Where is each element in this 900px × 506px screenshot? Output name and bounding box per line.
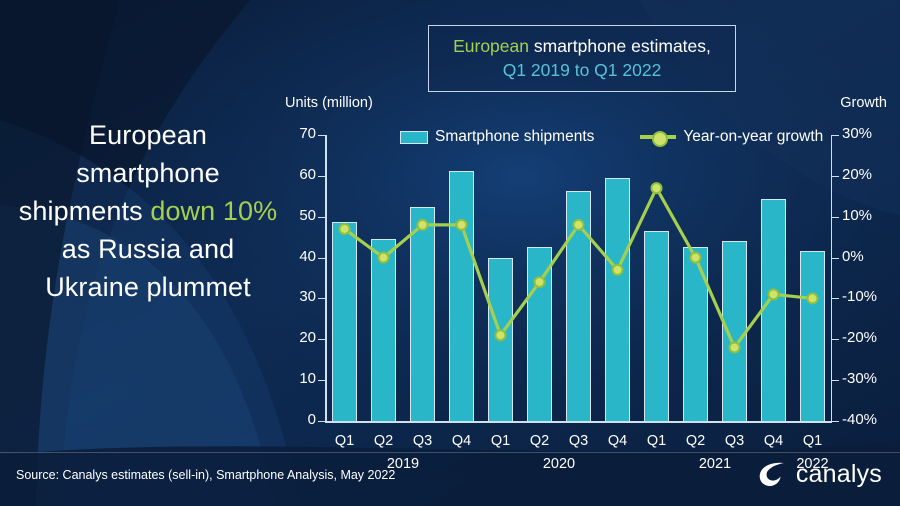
y-tick-label-right: -40% xyxy=(842,411,877,428)
y-tick-label-left: 40 xyxy=(299,248,316,265)
growth-line-path xyxy=(345,188,813,347)
growth-marker-0 xyxy=(340,224,350,234)
y-tick-left xyxy=(318,135,325,136)
y-tick-left xyxy=(318,298,325,299)
y-axis-title-left: Units (million) xyxy=(285,95,373,111)
y-tick-right xyxy=(832,298,839,299)
x-tick-label-7: Q4 xyxy=(598,433,637,449)
x-tick-label-11: Q4 xyxy=(754,433,793,449)
y-tick-left xyxy=(318,421,325,422)
growth-marker-7 xyxy=(613,265,623,275)
growth-marker-2 xyxy=(418,220,428,230)
y-tick-right xyxy=(832,258,839,259)
chart-title-box: European smartphone estimates, Q1 2019 t… xyxy=(428,25,736,92)
y-tick-label-left: 70 xyxy=(299,125,316,142)
y-tick-label-left: 0 xyxy=(308,411,316,428)
y-tick-right xyxy=(832,380,839,381)
slide-canvas: European smartphone shipments down 10% a… xyxy=(0,0,900,506)
y-tick-left xyxy=(318,217,325,218)
growth-marker-1 xyxy=(379,253,389,263)
x-tick-label-6: Q3 xyxy=(559,433,598,449)
y-tick-label-left: 60 xyxy=(299,166,316,183)
x-tick-label-0: Q1 xyxy=(325,433,364,449)
chart: Units (million) Growth Smartphone shipme… xyxy=(285,95,885,445)
growth-marker-6 xyxy=(574,220,584,230)
y-tick-label-right: 10% xyxy=(842,207,872,224)
y-tick-label-right: 20% xyxy=(842,166,872,183)
y-tick-label-left: 30 xyxy=(299,288,316,305)
y-tick-label-right: -30% xyxy=(842,370,877,387)
y-tick-left xyxy=(318,380,325,381)
chart-title-region: European xyxy=(453,36,529,56)
growth-marker-12 xyxy=(808,293,818,303)
x-tick-label-10: Q3 xyxy=(715,433,754,449)
growth-marker-5 xyxy=(535,277,545,287)
y-tick-right xyxy=(832,176,839,177)
x-tick-label-9: Q2 xyxy=(676,433,715,449)
growth-marker-11 xyxy=(769,289,779,299)
y-tick-left xyxy=(318,339,325,340)
x-tick-label-2: Q3 xyxy=(403,433,442,449)
chart-title-line-2: Q1 2019 to Q1 2022 xyxy=(503,60,662,81)
growth-marker-8 xyxy=(652,183,662,193)
growth-marker-9 xyxy=(691,253,701,263)
chart-title-line-1: European smartphone estimates, xyxy=(453,36,711,57)
x-tick-label-4: Q1 xyxy=(481,433,520,449)
canalys-wordmark: canalys xyxy=(796,460,882,489)
x-tick-label-8: Q1 xyxy=(637,433,676,449)
canalys-swoosh-icon xyxy=(757,459,787,489)
headline-highlight: down 10% xyxy=(150,196,277,226)
x-tick-label-5: Q2 xyxy=(520,433,559,449)
x-axis-line xyxy=(325,421,832,423)
y-tick-label-left: 50 xyxy=(299,207,316,224)
x-tick-label-12: Q1 xyxy=(793,433,832,449)
growth-marker-4 xyxy=(496,330,506,340)
growth-marker-10 xyxy=(730,342,740,352)
plot-area: 010203040506070-40%-30%-20%-10%0%10%20%3… xyxy=(325,135,832,421)
footer-divider xyxy=(0,452,900,453)
source-note: Source: Canalys estimates (sell-in), Sma… xyxy=(16,468,395,482)
headline-part-2: as Russia and Ukraine plummet xyxy=(45,234,251,302)
y-tick-right xyxy=(832,135,839,136)
growth-line-series xyxy=(325,135,832,421)
y-tick-label-left: 10 xyxy=(299,370,316,387)
y-axis-title-right: Growth xyxy=(840,95,887,111)
y-tick-right xyxy=(832,421,839,422)
y-tick-label-right: 30% xyxy=(842,125,872,142)
y-tick-label-right: -20% xyxy=(842,329,877,346)
page-headline: European smartphone shipments down 10% a… xyxy=(14,116,282,306)
y-tick-left xyxy=(318,176,325,177)
x-year-label-2020: 2020 xyxy=(481,456,637,472)
x-tick-label-1: Q2 xyxy=(364,433,403,449)
y-tick-label-right: 0% xyxy=(842,248,864,265)
growth-marker-3 xyxy=(457,220,467,230)
y-tick-left xyxy=(318,258,325,259)
chart-title-subject: smartphone estimates, xyxy=(529,36,711,56)
canalys-logo: canalys xyxy=(757,459,882,489)
y-tick-right xyxy=(832,217,839,218)
x-tick-label-3: Q4 xyxy=(442,433,481,449)
y-tick-right xyxy=(832,339,839,340)
y-tick-label-right: -10% xyxy=(842,288,877,305)
y-tick-label-left: 20 xyxy=(299,329,316,346)
